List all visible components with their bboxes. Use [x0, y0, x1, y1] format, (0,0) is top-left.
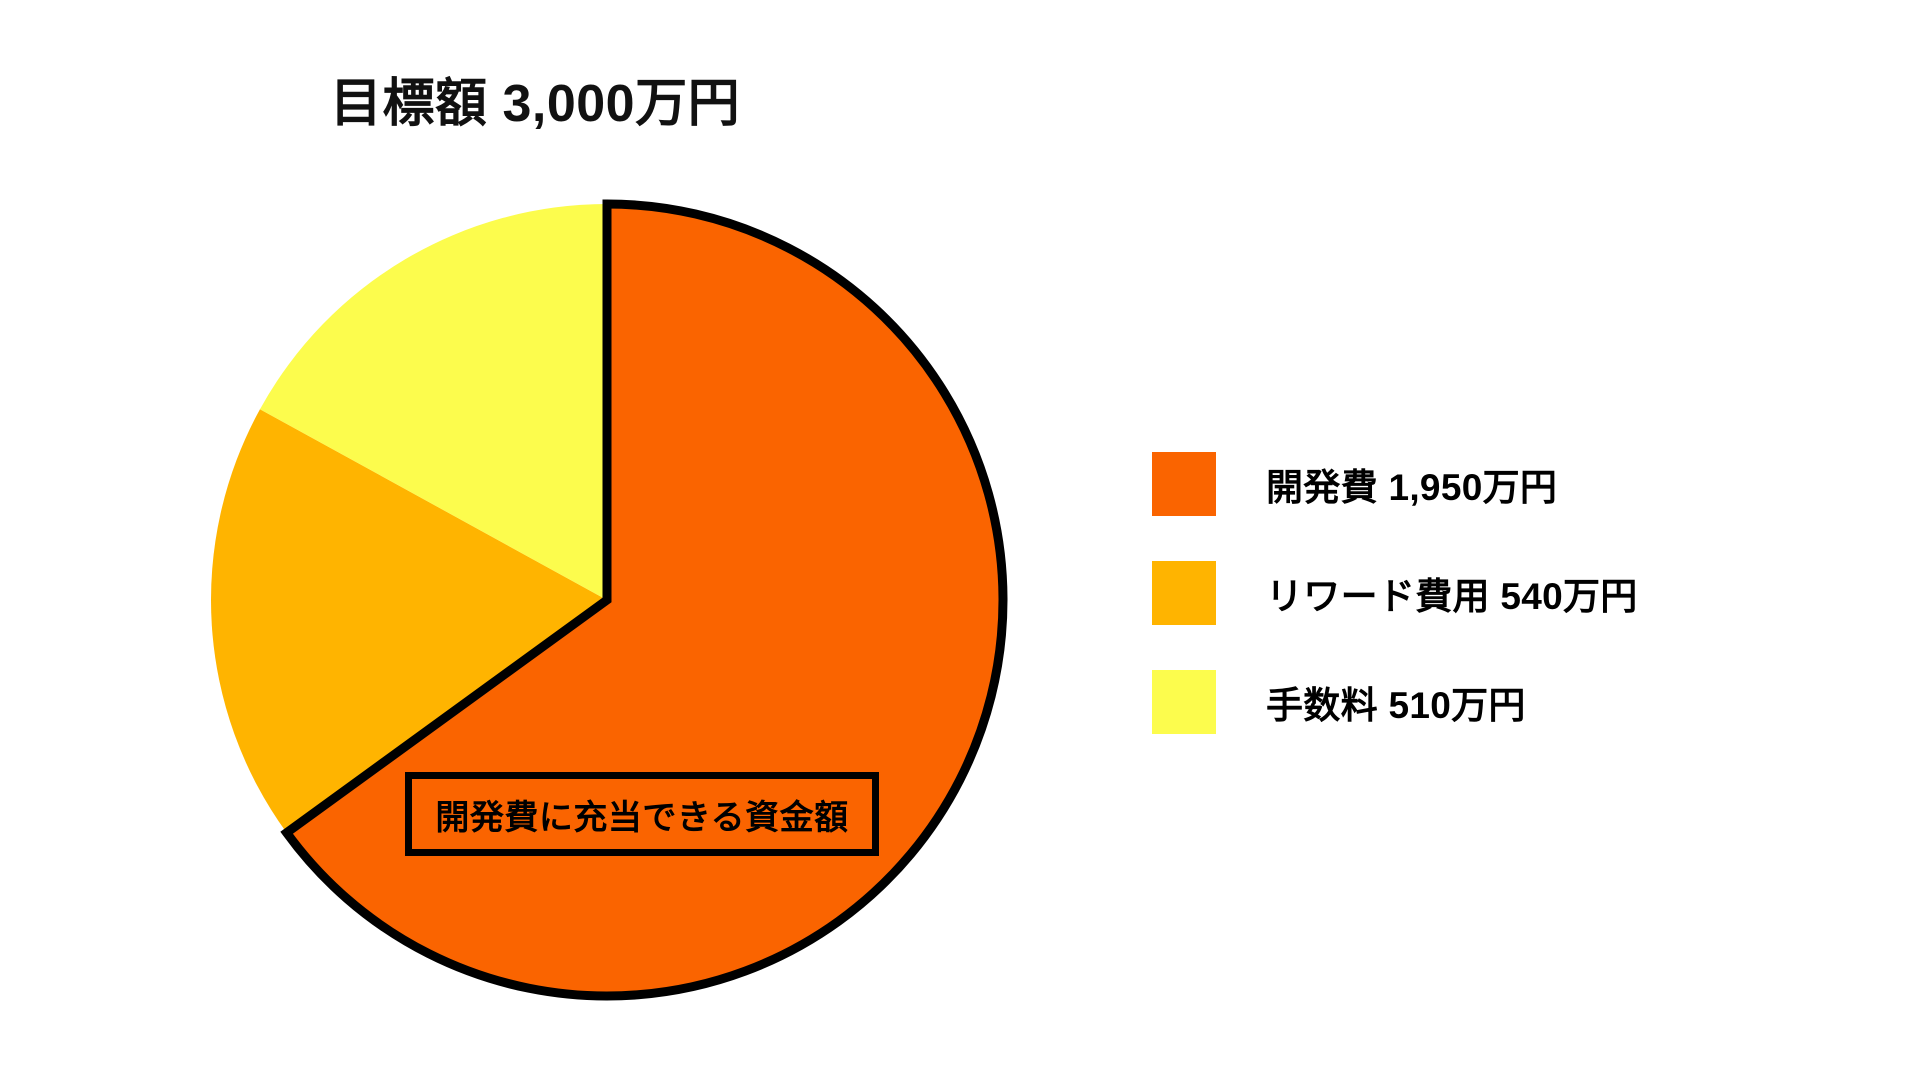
pie-chart-svg [207, 200, 1007, 1000]
legend-item-reward[interactable]: リワード費用 540万円 [1152, 561, 1792, 625]
legend-swatch-fee [1152, 670, 1216, 734]
callout-box: 開発費に充当できる資金額 [405, 772, 879, 856]
legend-label-reward: リワード費用 540万円 [1266, 566, 1638, 620]
chart-canvas: 目標額 3,000万円 開発費に充当できる資金額 開発費 1,950万円 リワー… [0, 0, 1920, 1080]
page-title: 目標額 3,000万円 [330, 76, 740, 133]
legend-swatch-development [1152, 452, 1216, 516]
legend-item-development[interactable]: 開発費 1,950万円 [1152, 452, 1792, 516]
legend-label-fee: 手数料 510万円 [1266, 675, 1526, 729]
legend-item-fee[interactable]: 手数料 510万円 [1152, 670, 1792, 734]
legend-swatch-reward [1152, 561, 1216, 625]
pie-chart [207, 200, 1007, 1000]
legend: 開発費 1,950万円 リワード費用 540万円 手数料 510万円 [1152, 452, 1792, 734]
legend-label-development: 開発費 1,950万円 [1266, 457, 1557, 511]
callout-label: 開発費に充当できる資金額 [435, 790, 848, 839]
